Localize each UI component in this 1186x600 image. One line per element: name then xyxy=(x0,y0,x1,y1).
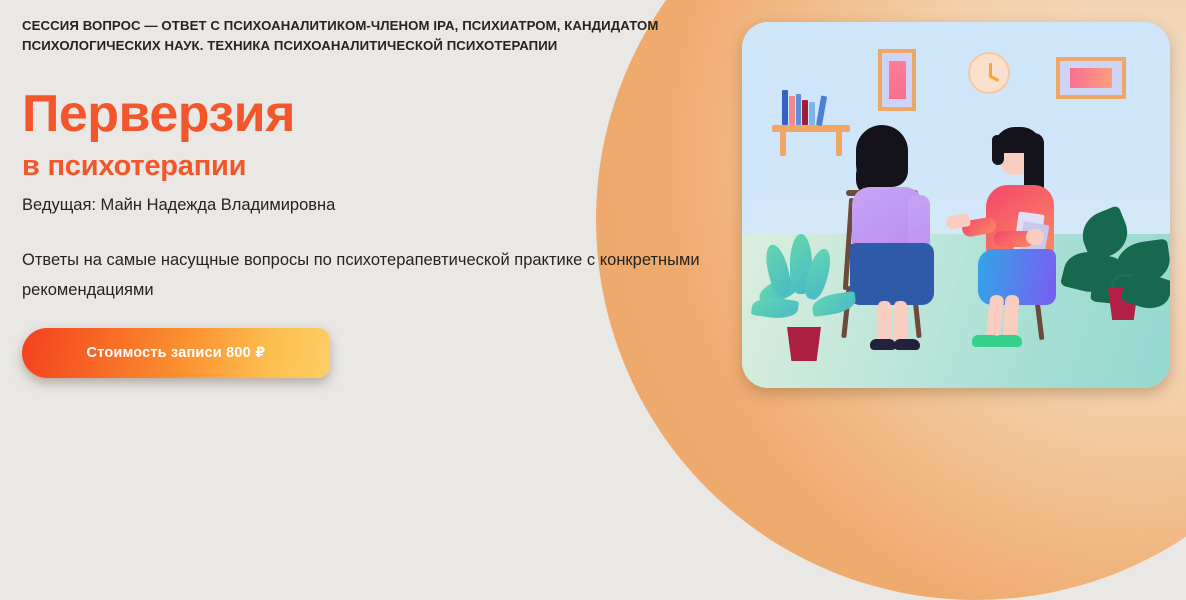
presenter-line: Ведущая: Майн Надежда Владимировна xyxy=(22,194,335,217)
landscape-picture-frame-icon xyxy=(1056,57,1126,99)
portrait-picture-frame-icon xyxy=(878,49,916,111)
promo-description: Ответы на самые насущные вопросы по псих… xyxy=(22,245,702,305)
purchase-recording-button[interactable]: Стоимость записи 800 ₽ xyxy=(22,328,330,378)
page-subtitle: в психотерапии xyxy=(22,152,246,181)
page-title: Перверзия xyxy=(22,88,295,140)
client-woman-figure xyxy=(842,125,952,345)
promo-subtitle: СЕССИЯ ВОПРОС — ОТВЕТ С ПСИХОАНАЛИТИКОМ-… xyxy=(22,16,682,57)
wall-clock-icon xyxy=(968,52,1010,94)
monstera-plant-icon xyxy=(1064,212,1170,327)
therapy-session-illustration xyxy=(742,22,1170,388)
